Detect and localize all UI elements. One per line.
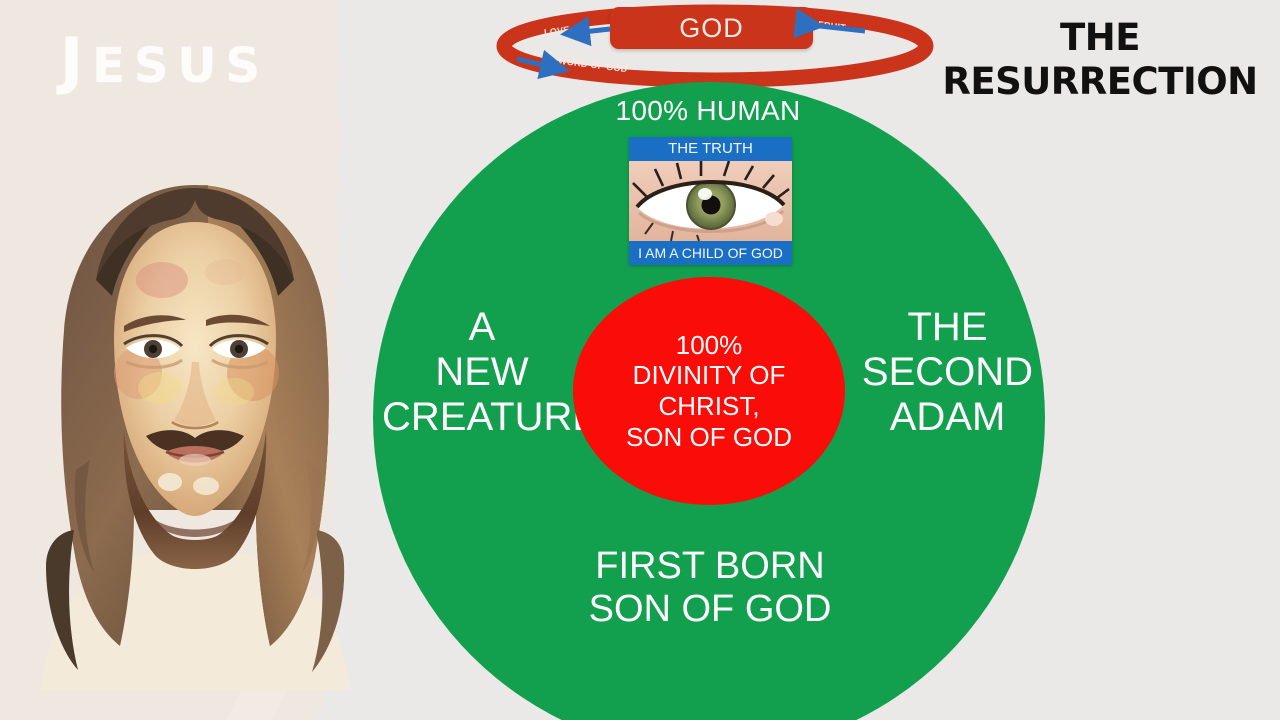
- slide-canvas: JESUS: [0, 0, 1280, 720]
- god-cycle-arrows: [495, 0, 935, 92]
- label-first-born-son-of-god: FIRST BORN SON OF GOD: [520, 545, 900, 630]
- arrow-fruit: [820, 26, 865, 31]
- arrow-word-of-god: [517, 59, 565, 70]
- page-title: THE RESURRECTION: [930, 16, 1270, 103]
- label-the-second-adam: THE SECOND ADAM: [845, 305, 1050, 439]
- arrow-love: [565, 29, 610, 34]
- label-divinity-of-christ: 100% DIVINITY OF CHRIST, SON OF GOD: [626, 330, 792, 453]
- human-eye-icon: [629, 161, 792, 241]
- truth-eye-card: THE TRUTH: [629, 137, 792, 265]
- label-100-percent-human: 100% HUMAN: [558, 95, 858, 126]
- jesus-portrait-image: [20, 130, 370, 690]
- jesus-wordmark-rest: ESUS: [92, 38, 269, 94]
- truth-card-top-label: THE TRUTH: [629, 137, 792, 161]
- truth-card-bottom-label: I AM A CHILD OF GOD: [629, 241, 792, 265]
- label-a-new-creature: A NEW CREATURE: [382, 305, 582, 439]
- red-circle-divinity: 100% DIVINITY OF CHRIST, SON OF GOD: [573, 277, 845, 505]
- jesus-wordmark: JESUS: [60, 30, 269, 92]
- jesus-wordmark-initial: J: [60, 24, 92, 97]
